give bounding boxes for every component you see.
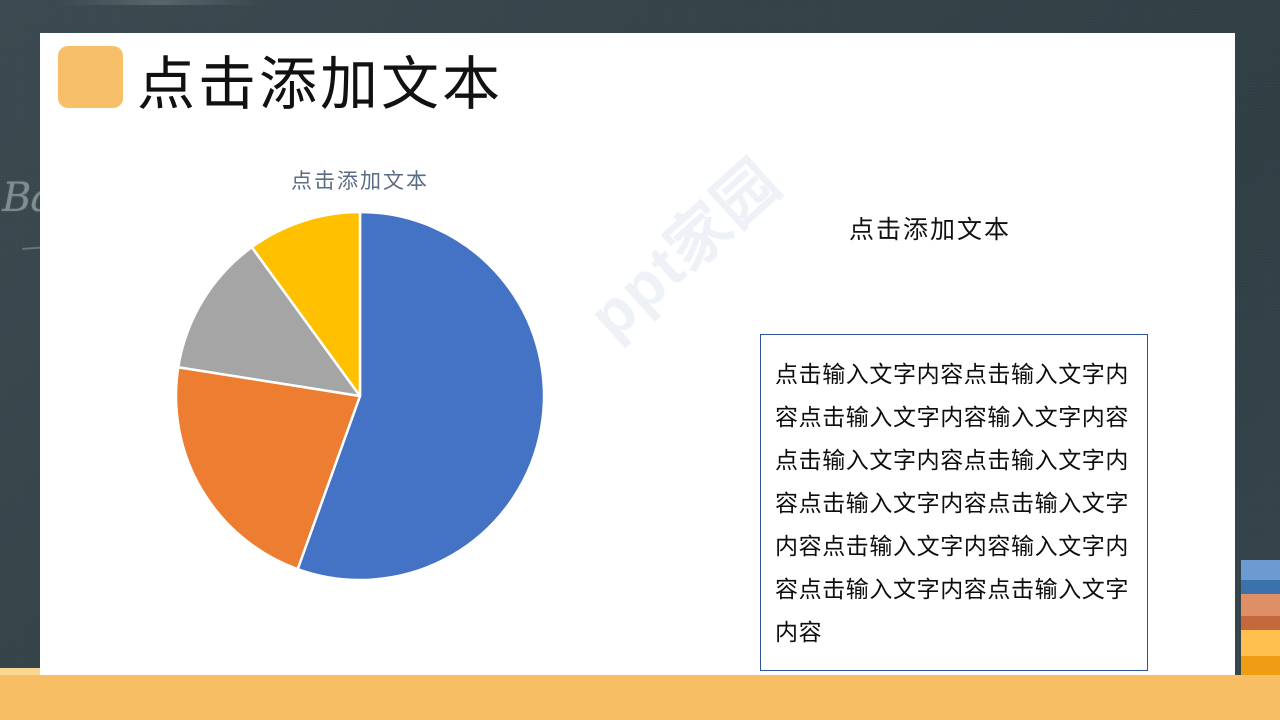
edge-block-salmon-light (1241, 594, 1280, 616)
pie-chart[interactable] (174, 210, 546, 582)
edge-color-blocks (1241, 560, 1280, 678)
text-box-line: 容点击输入文字内容点击输入文字 (775, 568, 1133, 611)
text-box-line: 内容 (775, 611, 1133, 654)
edge-block-blue-dark (1241, 580, 1280, 594)
text-box-body: 点击输入文字内容点击输入文字内容点击输入文字内容输入文字内容点击输入文字内容点击… (775, 353, 1133, 654)
title-accent-swatch (58, 46, 123, 108)
text-box-line: 点击输入文字内容点击输入文字内 (775, 439, 1133, 482)
chalk-streak (60, 0, 260, 5)
content-heading: 点击添加文本 (690, 210, 1170, 246)
slide-card: ppt家园 点击添加文本 点击添加文本 点击添加文本 点击输入文字内容点击输入文… (40, 33, 1235, 675)
edge-block-salmon-dark (1241, 616, 1280, 630)
text-box[interactable]: 点击输入文字内容点击输入文字内容点击输入文字内容输入文字内容点击输入文字内容点击… (760, 334, 1148, 671)
pie-chart-svg (174, 210, 546, 582)
text-box-line: 容点击输入文字内容输入文字内容 (775, 396, 1133, 439)
pie-slice-group (176, 212, 544, 580)
edge-block-blue-light (1241, 560, 1280, 580)
edge-block-amber-light (1241, 630, 1280, 656)
bottom-band-highlight (0, 668, 40, 675)
chart-panel: 点击添加文本 (40, 138, 680, 643)
text-box-line: 容点击输入文字内容点击输入文字 (775, 482, 1133, 525)
bottom-orange-band (0, 675, 1280, 720)
page-title: 点击添加文本 (137, 36, 503, 134)
text-content-panel: 点击添加文本 点击输入文字内容点击输入文字内容点击输入文字内容输入文字内容点击输… (690, 138, 1235, 643)
text-box-line: 内容点击输入文字内容输入文字内 (775, 525, 1133, 568)
chart-title: 点击添加文本 (40, 165, 680, 195)
text-box-line: 点击输入文字内容点击输入文字内 (775, 353, 1133, 396)
slide-header: 点击添加文本 (40, 33, 1235, 138)
